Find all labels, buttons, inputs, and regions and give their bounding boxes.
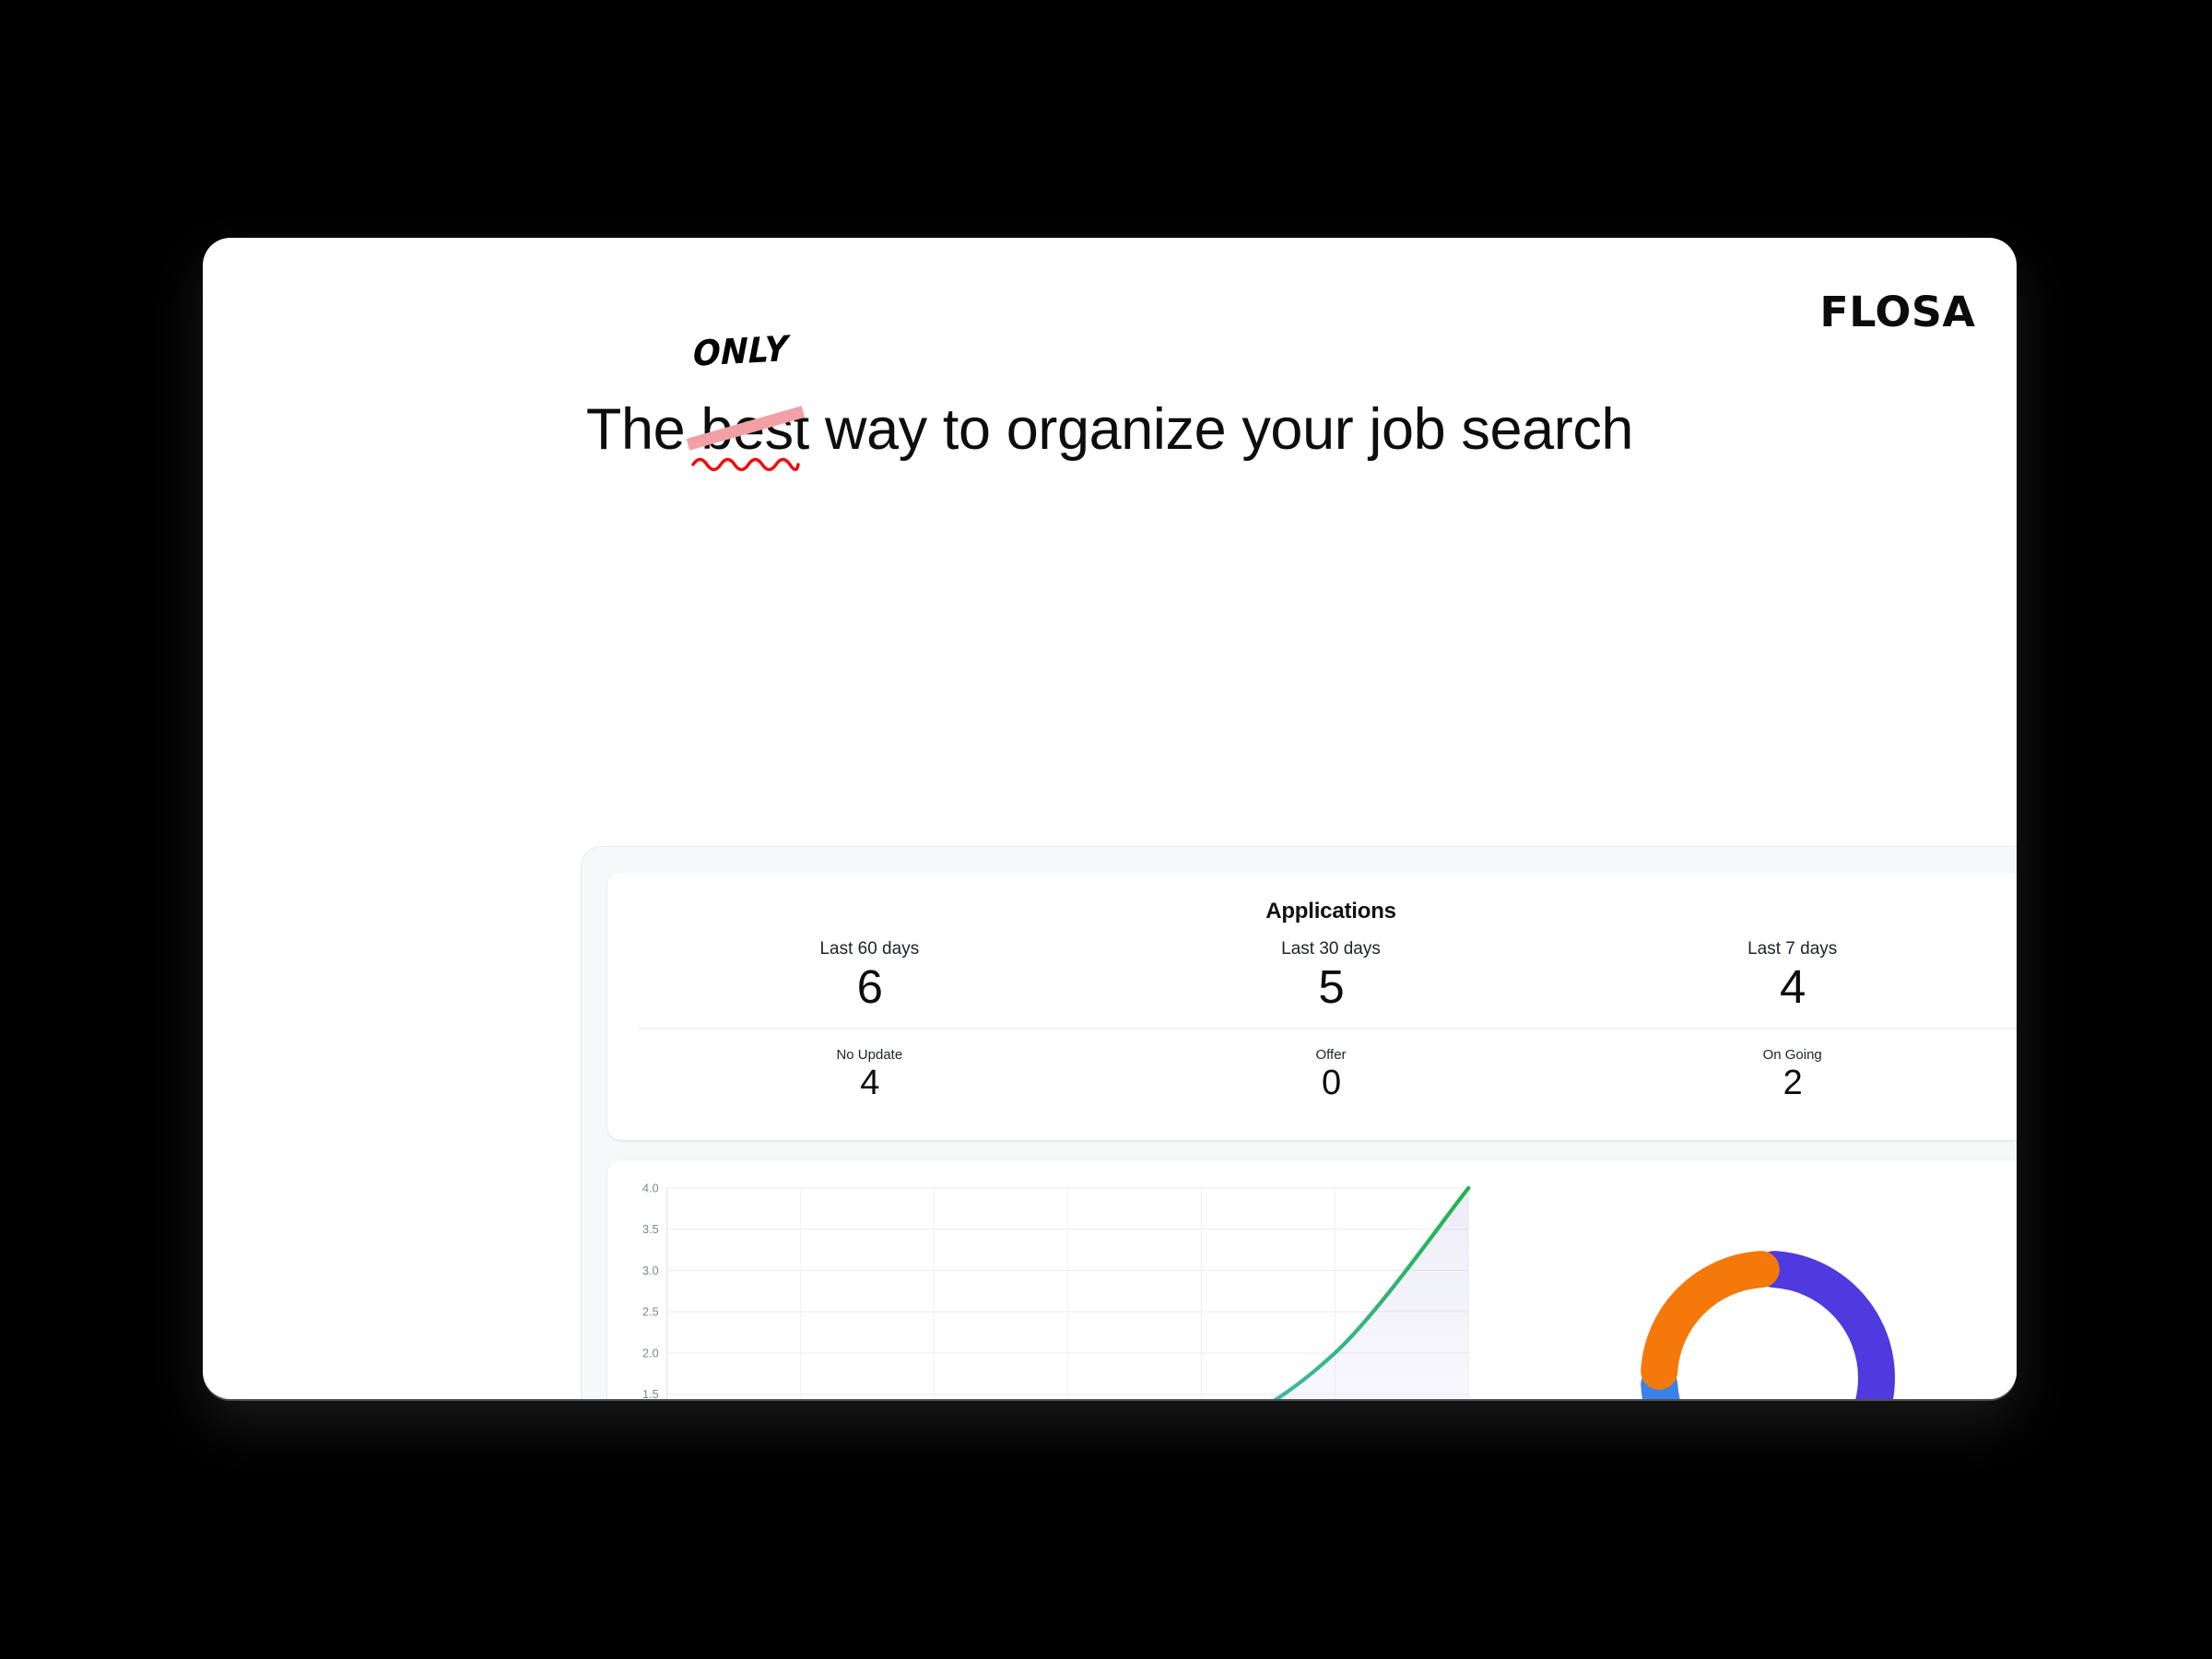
dashboard-panel: Applications Last 60 days 6 Last 30 days…: [581, 846, 2017, 1399]
svg-text:4.0: 4.0: [642, 1182, 659, 1195]
app-window: FLOSA The ONLYbest way to organize your …: [203, 238, 2017, 1399]
hero-section: The ONLYbest way to organize your job se…: [203, 396, 2017, 463]
applications-stats-card: Applications Last 60 days 6 Last 30 days…: [607, 873, 2017, 1140]
svg-text:2.0: 2.0: [642, 1347, 659, 1360]
stats-card-title: Applications: [639, 899, 2017, 924]
stat-last-30-days: Last 30 days 5: [1100, 939, 1562, 1015]
headline-text-before: The: [586, 397, 700, 462]
stat-value: 6: [639, 959, 1100, 1015]
page-title: The ONLYbest way to organize your job se…: [586, 396, 1633, 463]
stat-label: No Update: [639, 1047, 1100, 1063]
donut-segment-no-update[interactable]: [1775, 1269, 1877, 1399]
svg-text:3.5: 3.5: [642, 1223, 659, 1236]
stat-on-going: On Going 2: [1561, 1047, 2017, 1105]
svg-text:1.5: 1.5: [642, 1388, 659, 1399]
stat-last-7-days: Last 7 days 4: [1561, 939, 2017, 1015]
stat-value: 4: [1561, 959, 2017, 1015]
stat-offer: Offer 0: [1100, 1047, 1562, 1105]
stat-value: 4: [639, 1063, 1100, 1105]
applications-line-chart[interactable]: 00.51.01.52.02.53.03.54.0MayJuneJulyAugu…: [618, 1175, 1499, 1399]
stat-no-update: No Update 4: [639, 1047, 1100, 1105]
stat-label: On Going: [1561, 1047, 2017, 1063]
squiggly-underline-icon: [691, 453, 800, 474]
brand-logo: FLOSA: [1820, 288, 1976, 336]
donut-chart-svg[interactable]: [1616, 1226, 1920, 1400]
stats-row-secondary: No Update 4 Offer 0 On Going 2: [639, 1047, 2017, 1105]
svg-text:3.0: 3.0: [642, 1265, 659, 1277]
only-annotation: ONLY: [693, 329, 789, 374]
headline-struck-word: best: [700, 397, 808, 462]
stat-value: 0: [1100, 1063, 1562, 1105]
line-chart-svg[interactable]: 00.51.01.52.02.53.03.54.0MayJuneJulyAugu…: [618, 1175, 1499, 1399]
stat-label: Offer: [1100, 1047, 1562, 1063]
stats-row-primary: Last 60 days 6 Last 30 days 5 Last 7 day…: [639, 939, 2017, 1015]
stat-value: 5: [1100, 959, 1562, 1015]
stat-label: Last 7 days: [1561, 939, 2017, 959]
stat-last-60-days: Last 60 days 6: [639, 939, 1100, 1015]
stat-label: Last 60 days: [639, 939, 1100, 959]
stat-value: 2: [1561, 1063, 2017, 1105]
charts-card: 00.51.01.52.02.53.03.54.0MayJuneJulyAugu…: [607, 1160, 2017, 1399]
donut-segment-on-going[interactable]: [1660, 1269, 1762, 1371]
stat-label: Last 30 days: [1100, 939, 1562, 959]
headline-struck-word-wrap: ONLYbest: [700, 396, 808, 463]
svg-text:2.5: 2.5: [642, 1306, 659, 1319]
application-status-donut-chart[interactable]: No UpdateRejectedGhostedOn Going: [1499, 1175, 2017, 1399]
screenshot-stage: FLOSA The ONLYbest way to organize your …: [0, 0, 2212, 1659]
stats-divider: [639, 1028, 2017, 1029]
headline-text-after: way to organize your job search: [809, 397, 1633, 462]
